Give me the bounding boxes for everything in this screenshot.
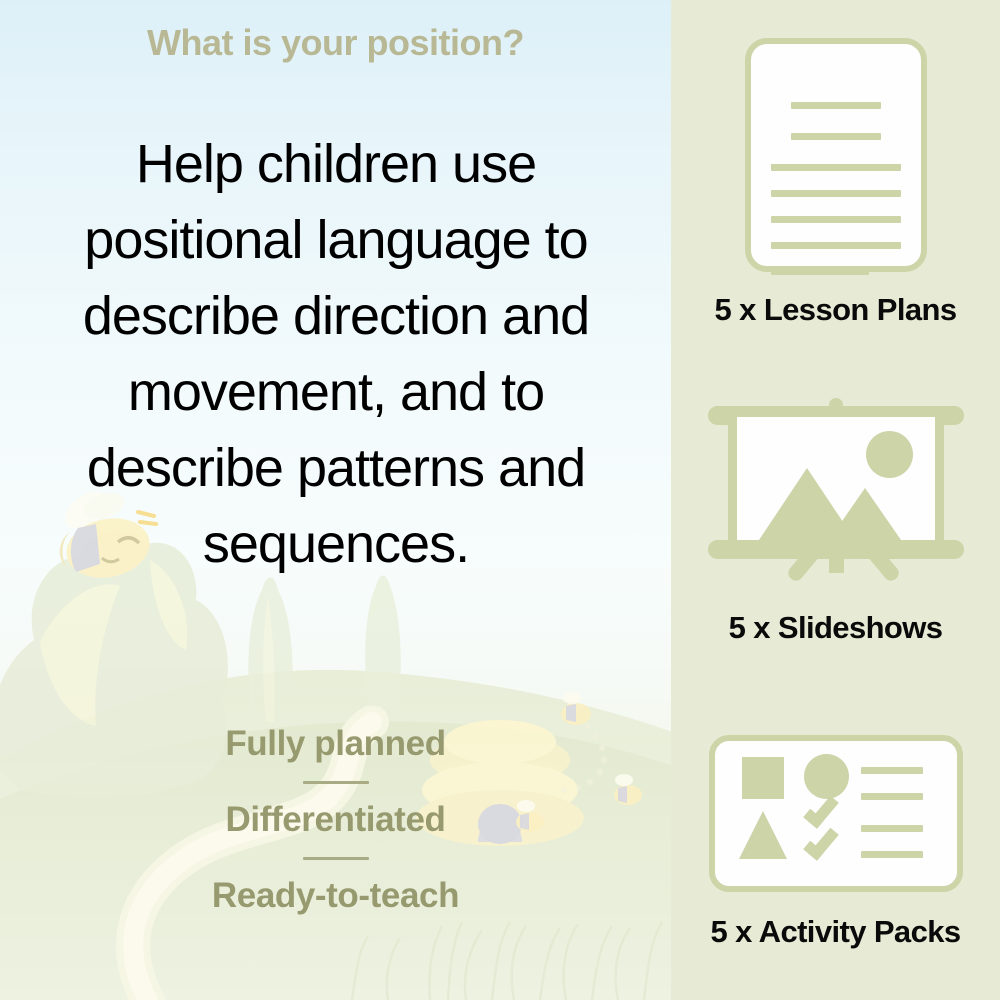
body-copy: Help children use positional language to… xyxy=(36,126,636,582)
doc-line-3 xyxy=(771,164,901,171)
doc-line-4 xyxy=(771,190,901,197)
product-activity-packs[interactable]: 5 x Activity Packs xyxy=(671,735,1000,950)
slide-mountain-small xyxy=(829,488,901,540)
taglines-group: Fully planned Differentiated Ready-to-te… xyxy=(0,722,671,918)
tagline-divider xyxy=(303,857,369,860)
tagline-ready-to-teach: Ready-to-teach xyxy=(0,874,671,918)
cypress-tree-right xyxy=(365,576,401,709)
product-slideshows[interactable]: 5 x Slideshows xyxy=(671,398,1000,646)
card-line-3 xyxy=(861,825,923,832)
projector-stem xyxy=(829,559,844,573)
activity-card-icon xyxy=(709,735,963,892)
product-label-lesson-plans: 5 x Lesson Plans xyxy=(671,292,1000,328)
doc-line-6 xyxy=(771,242,901,249)
product-lesson-plans[interactable]: 5 x Lesson Plans xyxy=(671,38,1000,328)
right-products-panel: 5 x Lesson Plans 5 x Slideshows xyxy=(671,0,1000,1000)
doc-line-1 xyxy=(791,102,881,109)
slide-sun-circle xyxy=(866,431,913,478)
doc-line-2 xyxy=(791,133,881,140)
tagline-fully-planned: Fully planned xyxy=(0,722,671,766)
product-label-slideshows: 5 x Slideshows xyxy=(671,610,1000,646)
tagline-divider xyxy=(303,781,369,784)
tagline-differentiated: Differentiated xyxy=(0,798,671,842)
projector-screen-icon xyxy=(708,398,964,588)
promo-canvas: What is your position? Help children use… xyxy=(0,0,1000,1000)
left-text-panel: What is your position? Help children use… xyxy=(0,0,671,1000)
document-icon xyxy=(745,38,927,272)
shape-square xyxy=(742,757,784,799)
card-line-4 xyxy=(861,851,923,858)
projector-screen-surface xyxy=(728,417,944,540)
cypress-tree-center xyxy=(248,577,292,722)
projector-bottom-bar xyxy=(708,540,964,559)
card-line-2 xyxy=(861,793,923,800)
caption-title: What is your position? xyxy=(0,22,671,64)
card-line-1 xyxy=(861,767,923,774)
shape-triangle xyxy=(739,811,787,859)
document-sheet xyxy=(745,38,927,272)
product-label-activity-packs: 5 x Activity Packs xyxy=(671,914,1000,950)
doc-line-7 xyxy=(771,268,869,275)
bee-hill-top xyxy=(561,692,591,725)
doc-line-5 xyxy=(771,216,901,223)
